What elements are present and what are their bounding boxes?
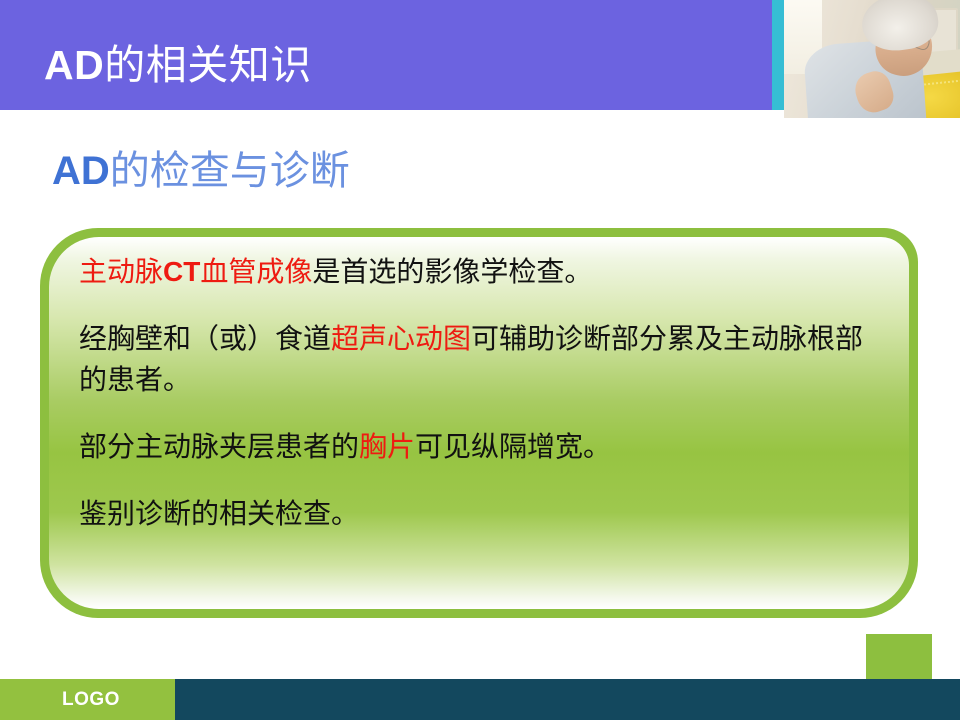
footer-logo-text: LOGO	[62, 688, 120, 712]
content-text-block: 主动脉CT血管成像是首选的影像学检查。 经胸壁和（或）食道超声心动图可辅助诊断部…	[79, 251, 889, 534]
header-title-latin: AD	[44, 42, 104, 88]
p2-highlight: 超声心动图	[331, 322, 471, 355]
subtitle-han: 的检查与诊断	[110, 148, 350, 194]
p3-normal-a: 部分主动脉夹层患者的	[79, 430, 359, 463]
content-paragraph-1: 主动脉CT血管成像是首选的影像学检查。	[79, 251, 889, 292]
slide-header-title: AD的相关知识	[44, 38, 312, 92]
p4-normal: 鉴别诊断的相关检查。	[79, 497, 359, 530]
p1-highlight-ct: CT	[163, 256, 200, 287]
p1-highlight-a: 主动脉	[79, 255, 163, 288]
footer-accent-square	[866, 634, 932, 679]
content-box-inner: 主动脉CT血管成像是首选的影像学检查。 经胸壁和（或）食道超声心动图可辅助诊断部…	[49, 237, 909, 609]
content-paragraph-2: 经胸壁和（或）食道超声心动图可辅助诊断部分累及主动脉根部的患者。	[79, 318, 889, 400]
p1-highlight-b: 血管成像	[200, 255, 312, 288]
presentation-slide: AD的相关知识 AD的检查与诊断 主动脉CT血管成像是首选的影像学检查。 经胸壁…	[0, 0, 960, 720]
header-photo	[784, 0, 960, 118]
slide-subtitle: AD的检查与诊断	[52, 143, 350, 199]
subtitle-latin: AD	[52, 149, 110, 193]
p3-highlight: 胸片	[359, 430, 415, 463]
content-paragraph-3: 部分主动脉夹层患者的胸片可见纵隔增宽。	[79, 426, 889, 467]
p3-normal-b: 可见纵隔增宽。	[415, 430, 611, 463]
header-accent-stripe	[772, 0, 784, 110]
p1-normal: 是首选的影像学检查。	[312, 255, 592, 288]
content-paragraph-4: 鉴别诊断的相关检查。	[79, 493, 889, 534]
header-title-han: 的相关知识	[104, 41, 312, 89]
content-rounded-box: 主动脉CT血管成像是首选的影像学检查。 经胸壁和（或）食道超声心动图可辅助诊断部…	[40, 228, 918, 618]
p2-normal-a: 经胸壁和（或）食道	[79, 322, 331, 355]
